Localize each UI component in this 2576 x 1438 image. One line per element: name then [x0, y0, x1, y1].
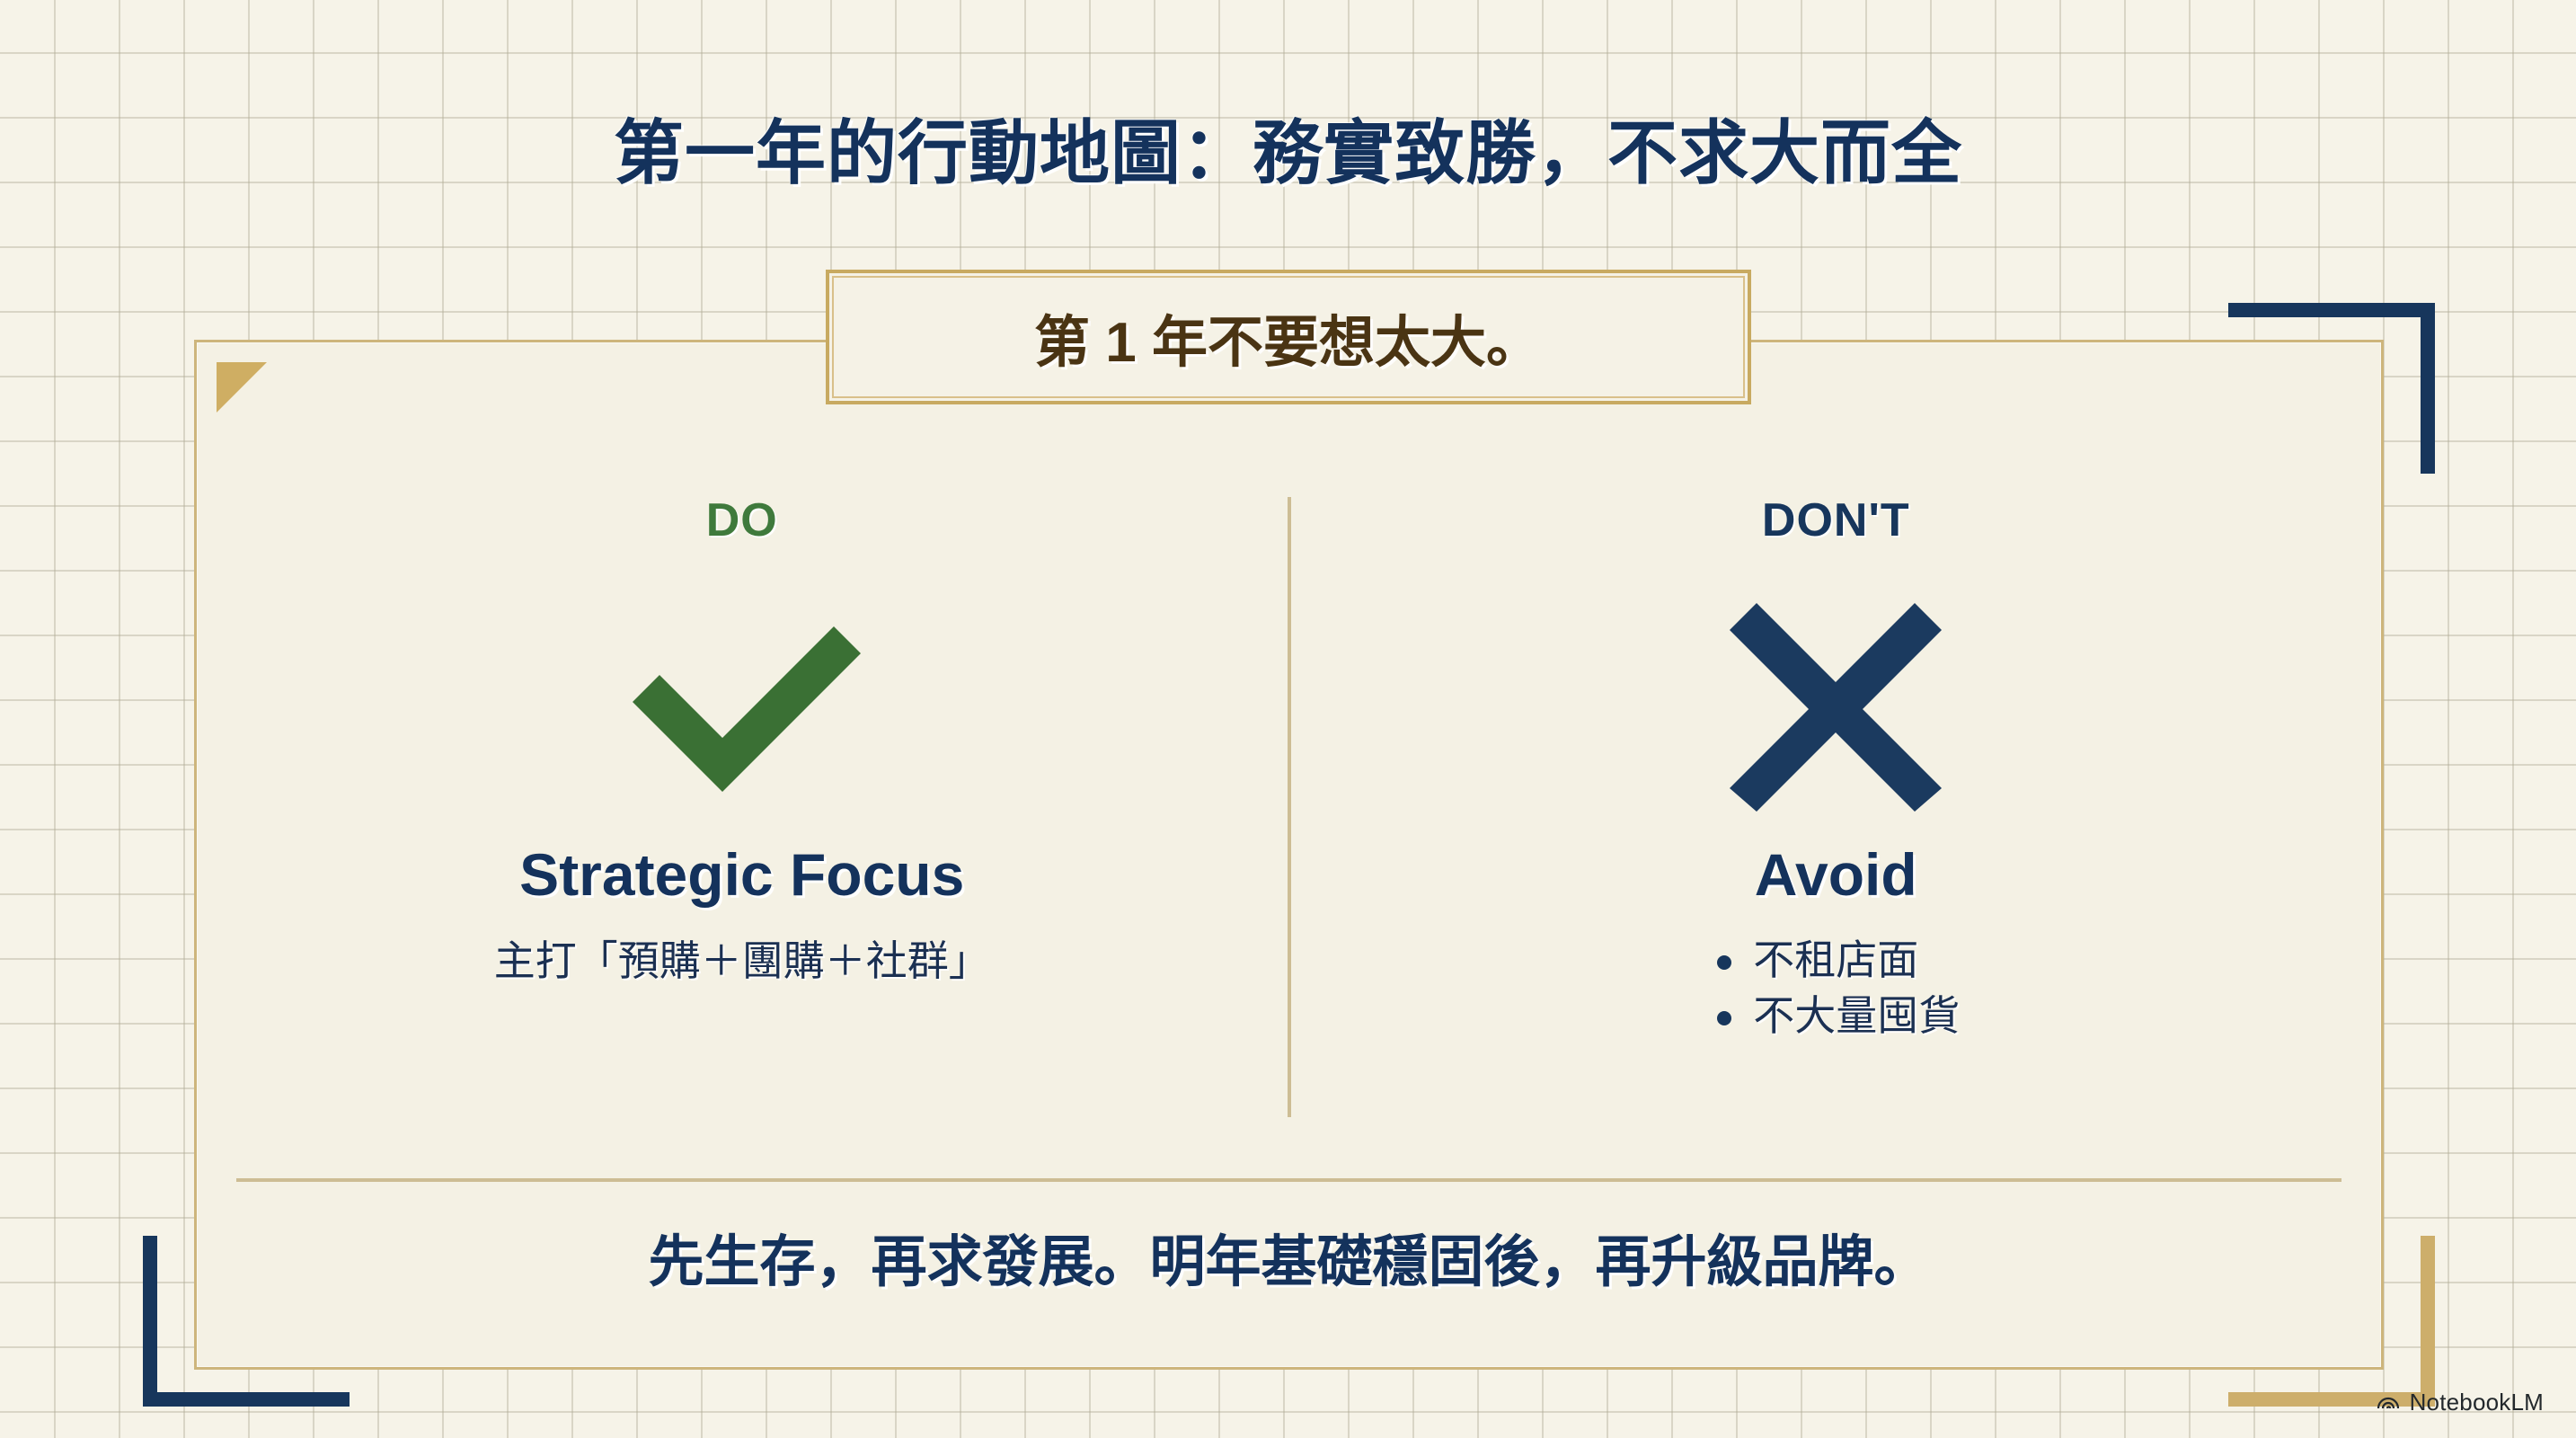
list-item: 不租店面: [1712, 932, 1960, 988]
do-subtitle: 主打「預購＋團購＋社群」: [494, 928, 990, 988]
notebooklm-watermark: NotebookLM: [2376, 1389, 2544, 1416]
bracket-vertical-segment: [2421, 303, 2435, 474]
do-title: Strategic Focus: [519, 840, 964, 909]
bracket-horizontal-segment: [2228, 303, 2435, 317]
cross-icon: [1719, 587, 1952, 812]
banner-text: 第 1 年不要想太大。: [1034, 297, 1542, 377]
do-dont-columns: DO Strategic Focus 主打「預購＋團購＋社群」 DON'T A: [197, 477, 2381, 1178]
do-column: DO Strategic Focus 主打「預購＋團購＋社群」: [197, 477, 1288, 1178]
do-heading: DO: [706, 493, 778, 547]
dont-bullet-list: 不租店面 不大量囤貨: [1712, 932, 1960, 1043]
dont-column: DON'T Avoid 不租店面 不大量囤貨: [1291, 477, 2382, 1178]
content-card: DO Strategic Focus 主打「預購＋團購＋社群」 DON'T A: [194, 340, 2384, 1370]
dont-title: Avoid: [1755, 840, 1917, 909]
check-icon: [607, 587, 877, 812]
slide-canvas: 第一年的行動地圖：務實致勝，不求大而全 DO Strategic F: [0, 0, 2576, 1438]
page-title: 第一年的行動地圖：務實致勝，不求大而全: [0, 97, 2576, 198]
bracket-vertical-segment: [2421, 1236, 2435, 1407]
bracket-horizontal-segment: [143, 1392, 350, 1407]
banner-box: 第 1 年不要想太大。: [826, 270, 1751, 404]
notebooklm-label: NotebookLM: [2410, 1389, 2544, 1416]
gold-triangle-decoration: [217, 362, 267, 413]
list-item: 不大量囤貨: [1712, 988, 1960, 1043]
footer-divider-rule: [236, 1178, 2341, 1182]
footer-text: 先生存，再求發展。明年基礎穩固後，再升級品牌。: [197, 1216, 2381, 1297]
bracket-vertical-segment: [143, 1236, 157, 1407]
dont-heading: DON'T: [1762, 493, 1910, 547]
notebooklm-arc-icon: [2376, 1389, 2401, 1416]
corner-bracket-top-right: [2228, 303, 2435, 474]
